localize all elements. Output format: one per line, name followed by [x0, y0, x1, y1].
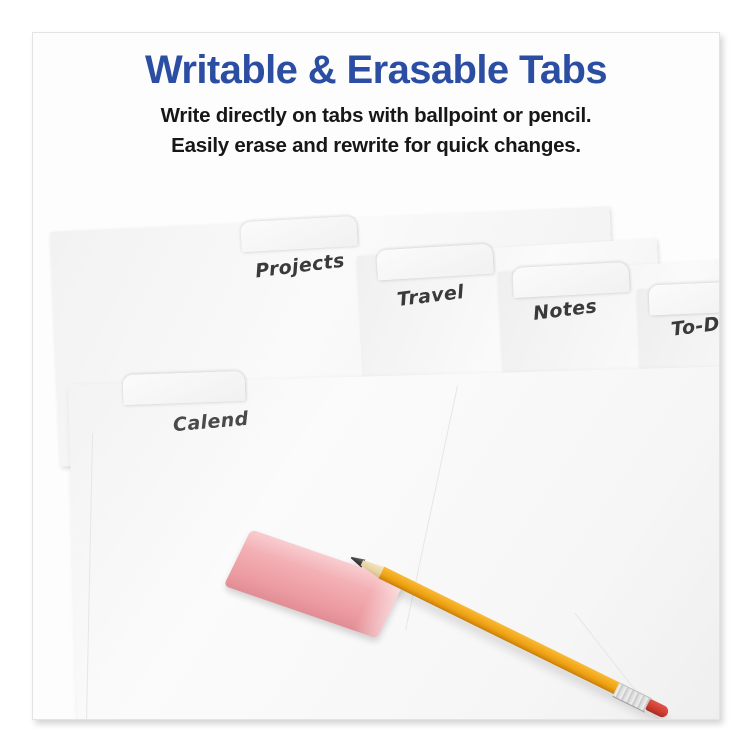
tab-calendar — [123, 371, 246, 405]
subtitle-line-2: Easily erase and rewrite for quick chang… — [33, 130, 719, 160]
tab-todo — [648, 281, 720, 316]
header-block: Writable & Erasable Tabs Write directly … — [33, 49, 719, 160]
product-image-card: Projects Travel Notes To-Do Calend Writ — [32, 32, 720, 720]
subtitle-line-1: Write directly on tabs with ballpoint or… — [33, 92, 719, 130]
tab-notes — [512, 262, 629, 298]
divider-sheet-calendar — [68, 365, 720, 720]
screenshot-stage: Projects Travel Notes To-Do Calend Writ — [0, 0, 750, 750]
page-title: Writable & Erasable Tabs — [33, 49, 719, 92]
